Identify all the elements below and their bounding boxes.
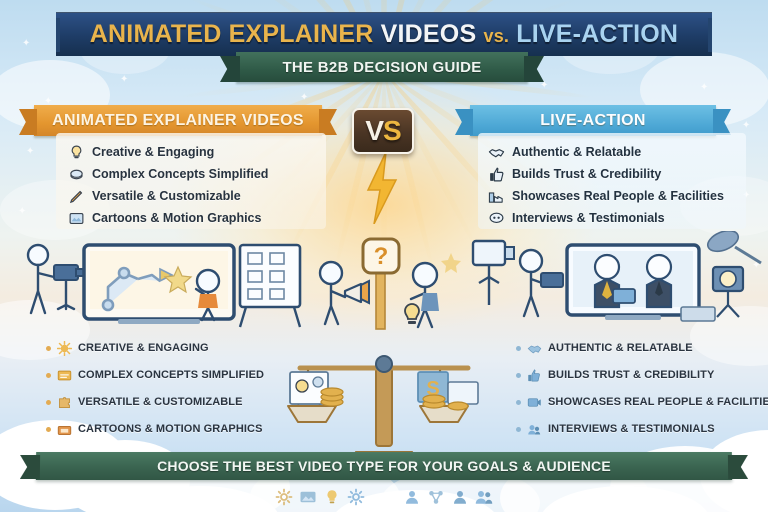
- people-chat-icon: [527, 422, 542, 437]
- bullet-dot: [516, 373, 521, 378]
- summary-label: SHOWCASES REAL PEOPLE & FACILITIES: [548, 396, 768, 408]
- infographic-canvas: ✦✦✦✦✦✦✦✦✦✦✦✦✦✦✦✦✦✦✦✦ ANIMATED EXPLAINER …: [0, 0, 768, 512]
- left-category-label: ANIMATED EXPLAINER VIDEOS: [52, 112, 304, 130]
- list-item: BUILDS TRUST & CREDIBILITY: [516, 363, 766, 387]
- group-icon: [475, 488, 493, 506]
- list-item: Complex Concepts Simplified: [68, 164, 324, 184]
- handshake-icon: [488, 144, 505, 161]
- left-summary-list: CREATIVE & ENGAGING COMPLEX CONCEPTS SIM…: [46, 336, 314, 444]
- vs-letter-s: S: [383, 115, 401, 146]
- image-icon: [299, 488, 317, 506]
- list-item: VERSATILE & CUSTOMIZABLE: [46, 390, 314, 414]
- handshake-icon: [527, 341, 542, 356]
- video-screen-icon: [527, 395, 542, 410]
- picture-frame-icon: [68, 210, 85, 227]
- svg-text:?: ?: [374, 243, 389, 270]
- bullet-dot: [516, 427, 521, 432]
- factory-building-icon: [488, 188, 505, 205]
- interview-bubble-icon: [488, 210, 505, 227]
- gear-icon: [275, 488, 293, 506]
- list-item: Interviews & Testimonials: [488, 208, 738, 228]
- animated-production-scene: [8, 239, 308, 331]
- feature-label: Showcases Real People & Facilities: [512, 189, 724, 203]
- subtitle-ribbon: THE B2B DECISION GUIDE: [236, 52, 528, 82]
- list-item: Creative & Engaging: [68, 142, 324, 162]
- title-part-liveaction: LIVE-ACTION: [516, 20, 678, 48]
- right-summary-list: AUTHENTIC & RELATABLE BUILDS TRUST & CRE…: [516, 336, 766, 444]
- page-title: ANIMATED EXPLAINER VIDEOS vs. LIVE-ACTIO…: [90, 20, 678, 49]
- subtitle-text: THE B2B DECISION GUIDE: [282, 59, 481, 76]
- bullet-dot: [516, 400, 521, 405]
- lightning-bolt-icon: [362, 152, 402, 224]
- pencil-icon: [68, 188, 85, 205]
- lightbulb-icon: [68, 144, 85, 161]
- person-icon: [451, 488, 469, 506]
- sun-burst-icon: [57, 341, 72, 356]
- decision-scene: ?: [305, 233, 480, 331]
- bullet-dot: [46, 400, 51, 405]
- summary-label: INTERVIEWS & TESTIMONIALS: [548, 423, 715, 435]
- book-idea-icon: [68, 166, 85, 183]
- list-item: SHOWCASES REAL PEOPLE & FACILITIES: [516, 390, 766, 414]
- left-feature-list: Creative & Engaging Complex Concepts Sim…: [68, 142, 324, 230]
- vs-badge: VS: [352, 108, 414, 154]
- feature-label: Builds Trust & Credibility: [512, 167, 661, 181]
- bullet-dot: [46, 346, 51, 351]
- summary-label: BUILDS TRUST & CREDIBILITY: [548, 369, 714, 381]
- thumbs-up-icon: [488, 166, 505, 183]
- feature-label: Complex Concepts Simplified: [92, 167, 268, 181]
- feature-label: Cartoons & Motion Graphics: [92, 211, 261, 225]
- summary-label: COMPLEX CONCEPTS SIMPLIFIED: [78, 369, 264, 381]
- clapper-icon: [57, 422, 72, 437]
- title-banner: ANIMATED EXPLAINER VIDEOS vs. LIVE-ACTIO…: [56, 12, 712, 56]
- list-item: Showcases Real People & Facilities: [488, 186, 738, 206]
- list-item: Builds Trust & Credibility: [488, 164, 738, 184]
- list-item: COMPLEX CONCEPTS SIMPLIFIED: [46, 363, 314, 387]
- footer-icon-row: [0, 482, 768, 512]
- person-icon: [403, 488, 421, 506]
- list-item: Cartoons & Motion Graphics: [68, 208, 324, 228]
- card-icon: [57, 368, 72, 383]
- summary-label: AUTHENTIC & RELATABLE: [548, 342, 693, 354]
- lightbulb-icon: [323, 488, 341, 506]
- summary-label: VERSATILE & CUSTOMIZABLE: [78, 396, 243, 408]
- feature-label: Versatile & Customizable: [92, 189, 241, 203]
- feature-label: Creative & Engaging: [92, 145, 214, 159]
- bullet-dot: [516, 346, 521, 351]
- left-category-ribbon: ANIMATED EXPLAINER VIDEOS: [34, 105, 322, 136]
- title-part-animated: ANIMATED EXPLAINER: [90, 20, 374, 48]
- vs-letter-v: V: [365, 115, 383, 146]
- right-feature-list: Authentic & Relatable Builds Trust & Cre…: [488, 142, 738, 230]
- feature-label: Authentic & Relatable: [512, 145, 641, 159]
- list-item: CARTOONS & MOTION GRAPHICS: [46, 417, 314, 441]
- network-icon: [427, 488, 445, 506]
- bullet-dot: [46, 427, 51, 432]
- illustration-band: ?: [0, 225, 768, 335]
- right-category-label: LIVE-ACTION: [540, 112, 646, 130]
- summary-label: CARTOONS & MOTION GRAPHICS: [78, 423, 263, 435]
- bottom-cta-text: CHOOSE THE BEST VIDEO TYPE FOR YOUR GOAL…: [157, 458, 611, 474]
- gear-icon: [347, 488, 365, 506]
- list-item: Versatile & Customizable: [68, 186, 324, 206]
- list-item: Authentic & Relatable: [488, 142, 738, 162]
- right-category-ribbon: LIVE-ACTION: [470, 105, 716, 136]
- bullet-dot: [46, 373, 51, 378]
- title-part-vs: vs.: [483, 26, 509, 46]
- thumbs-up-icon: [527, 368, 542, 383]
- list-item: CREATIVE & ENGAGING: [46, 336, 314, 360]
- balance-scale: S: [286, 352, 482, 464]
- bottom-cta-banner: CHOOSE THE BEST VIDEO TYPE FOR YOUR GOAL…: [36, 452, 732, 480]
- puzzle-icon: [57, 395, 72, 410]
- summary-label: CREATIVE & ENGAGING: [78, 342, 209, 354]
- list-item: AUTHENTIC & RELATABLE: [516, 336, 766, 360]
- feature-label: Interviews & Testimonials: [512, 211, 665, 225]
- list-item: INTERVIEWS & TESTIMONIALS: [516, 417, 766, 441]
- title-part-videos: VIDEOS: [381, 20, 477, 48]
- live-action-production-scene: [455, 231, 765, 331]
